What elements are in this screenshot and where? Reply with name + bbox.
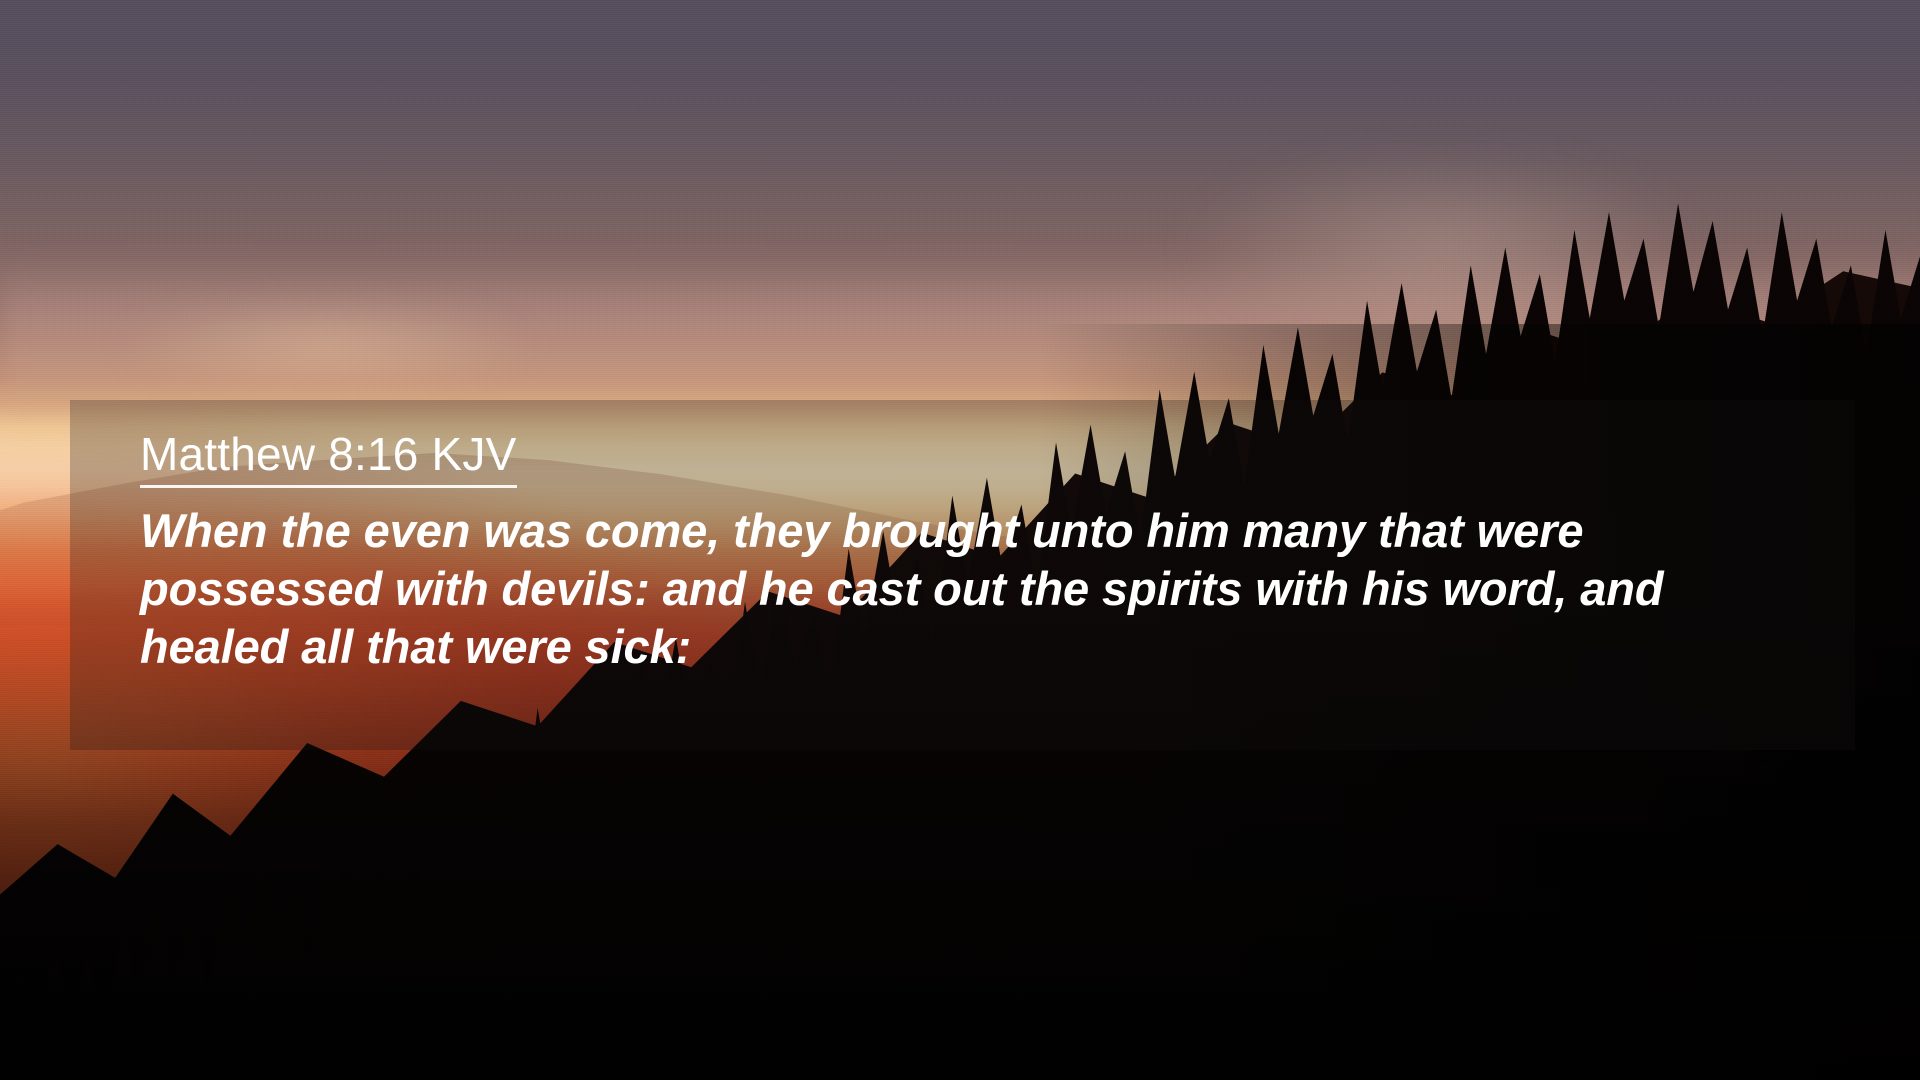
- verse-overlay-panel: Matthew 8:16 KJV When the even was come,…: [70, 400, 1855, 750]
- verse-body-text: When the even was come, they brought unt…: [140, 502, 1795, 676]
- wallpaper-stage: Matthew 8:16 KJV When the even was come,…: [0, 0, 1920, 1080]
- verse-reference-heading: Matthew 8:16 KJV: [140, 430, 517, 488]
